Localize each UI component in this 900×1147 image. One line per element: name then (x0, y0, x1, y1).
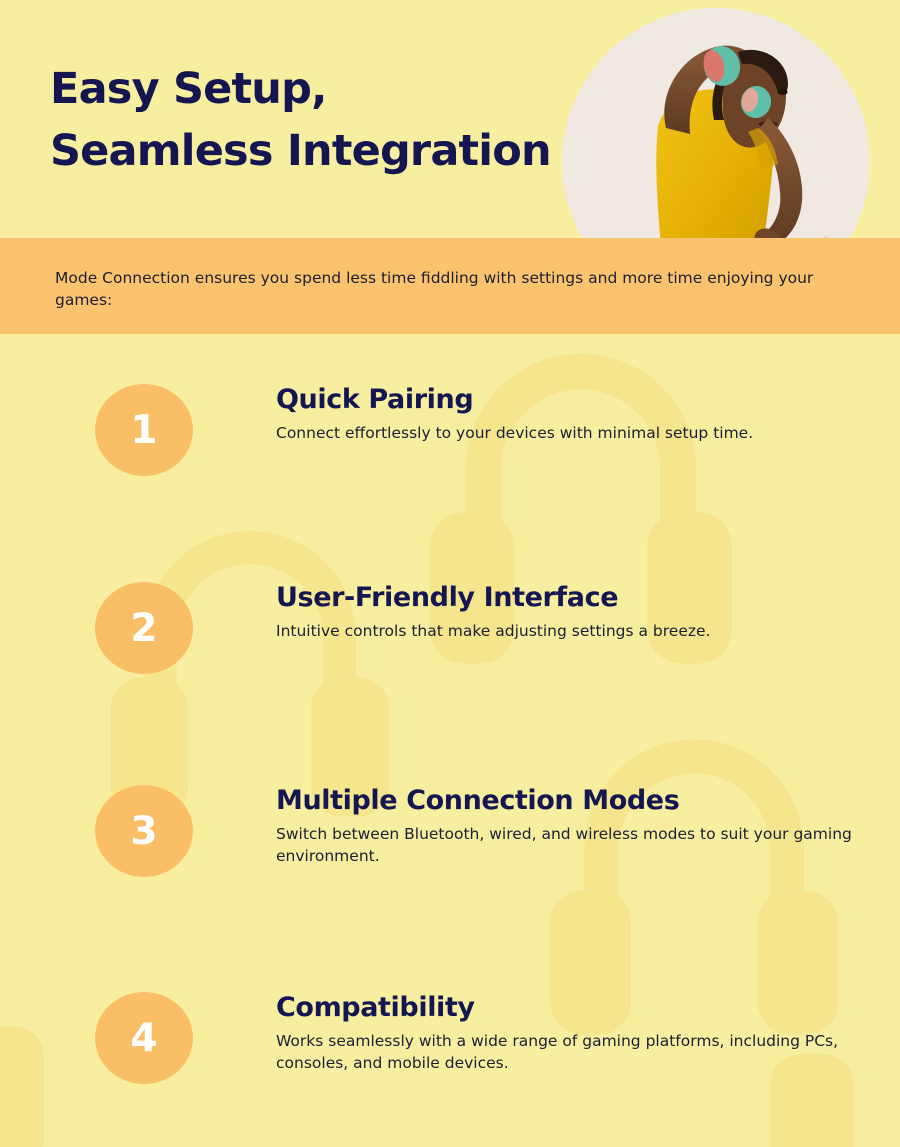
intro-band: Mode Connection ensures you spend less t… (0, 238, 900, 334)
step-number-label: 4 (130, 1019, 157, 1058)
feature-title: Compatibility (276, 992, 866, 1023)
poster-header: Easy Setup, Seamless Integration (0, 0, 900, 238)
feature-title: User-Friendly Interface (276, 582, 866, 613)
step-number-label: 2 (130, 609, 157, 648)
feature-body: Quick Pairing Connect effortlessly to yo… (276, 384, 866, 444)
feature-description: Switch between Bluetooth, wired, and wir… (276, 823, 866, 867)
feature-description: Works seamlessly with a wide range of ga… (276, 1030, 866, 1074)
step-number-badge: 4 (95, 992, 193, 1084)
feature-title: Quick Pairing (276, 384, 866, 415)
feature-body: User-Friendly Interface Intuitive contro… (276, 582, 866, 642)
poster-canvas: Easy Setup, Seamless Integration (0, 0, 900, 1147)
step-number-badge: 1 (95, 384, 193, 476)
step-number-label: 1 (130, 411, 157, 450)
feature-title: Multiple Connection Modes (276, 785, 866, 816)
step-number-badge: 3 (95, 785, 193, 877)
feature-description: Connect effortlessly to your devices wit… (276, 422, 866, 444)
step-number-badge: 2 (95, 582, 193, 674)
intro-band-text: Mode Connection ensures you spend less t… (55, 267, 845, 312)
feature-body: Compatibility Works seamlessly with a wi… (276, 992, 866, 1074)
step-number-label: 3 (130, 812, 157, 851)
page-title: Easy Setup, Seamless Integration (50, 58, 551, 183)
feature-description: Intuitive controls that make adjusting s… (276, 620, 866, 642)
feature-body: Multiple Connection Modes Switch between… (276, 785, 866, 867)
